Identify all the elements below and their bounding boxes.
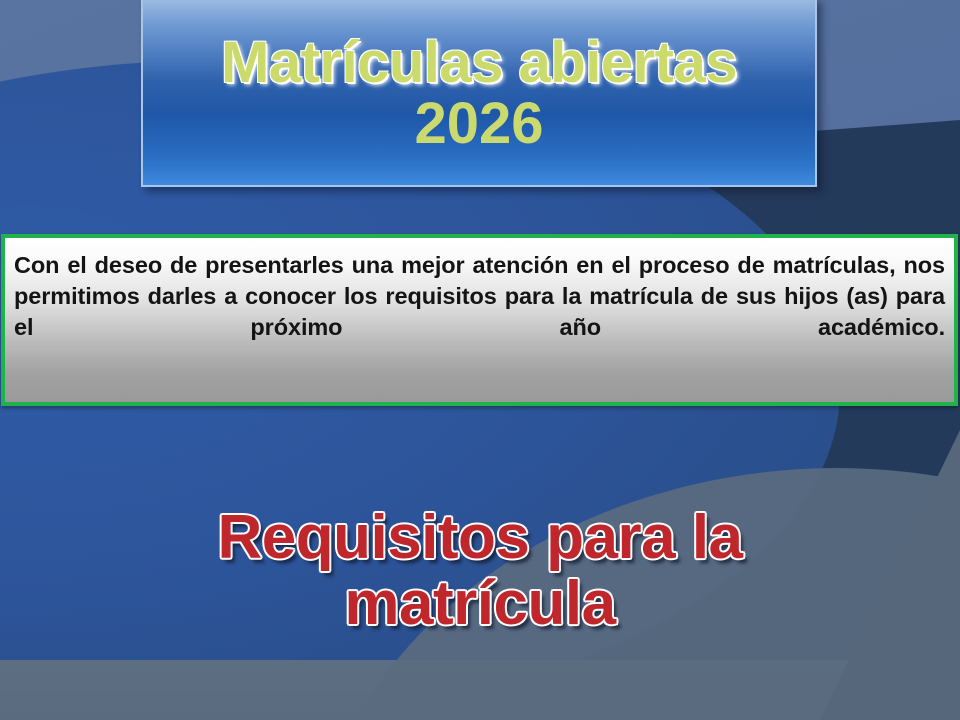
slide-canvas: Matrículas abiertas 2026 Con el deseo de… (0, 0, 960, 720)
title-card-content: Matrículas abiertas 2026 (143, 0, 815, 185)
title-line-1: Matrículas abiertas (221, 33, 737, 92)
body-text-panel: Con el deseo de presentarles una mejor a… (1, 234, 958, 406)
title-line-2-year: 2026 (414, 94, 543, 155)
body-paragraph: Con el deseo de presentarles una mejor a… (5, 238, 954, 374)
title-card: Matrículas abiertas 2026 (141, 0, 817, 187)
